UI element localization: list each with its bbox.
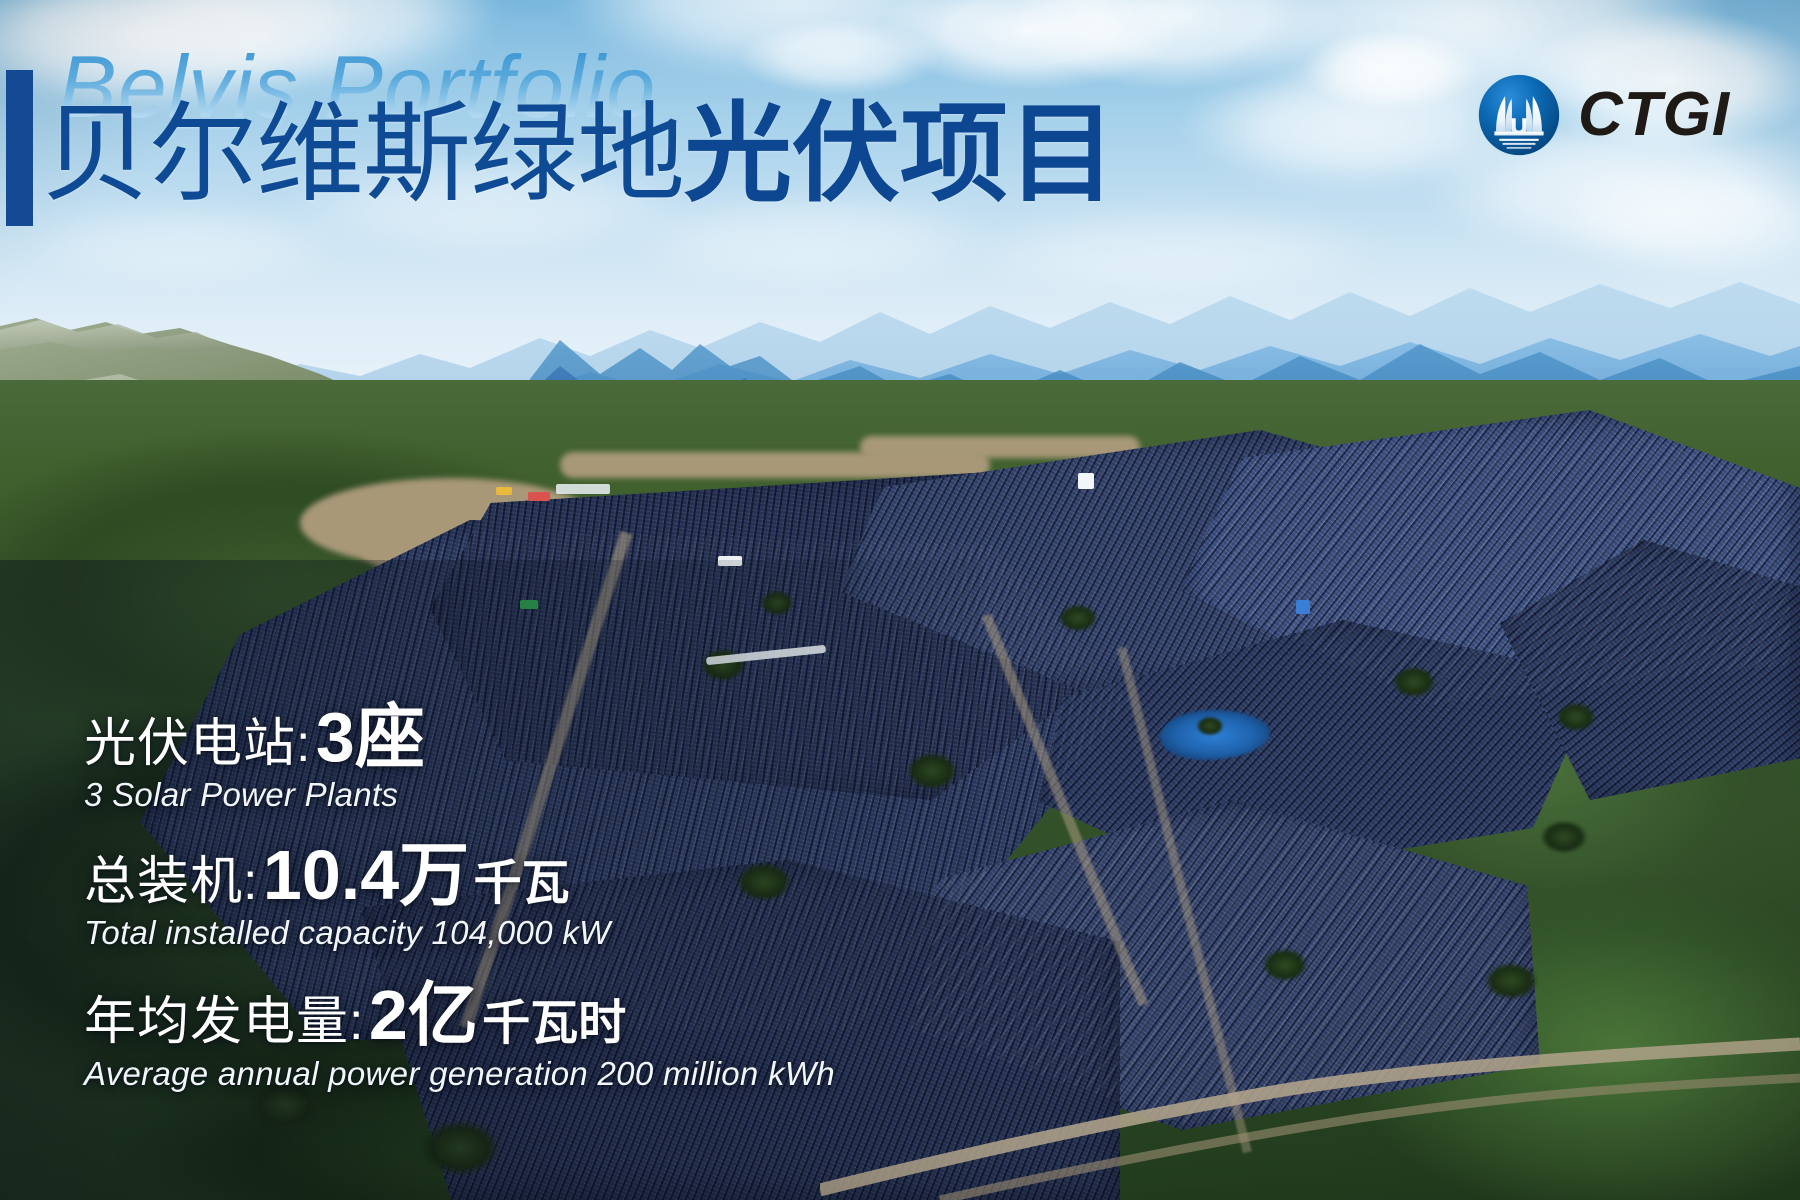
cloud <box>740 20 940 95</box>
page-title: 贝尔维斯绿地光伏项目 <box>42 100 1116 208</box>
brand-name: CTGI <box>1578 84 1730 146</box>
stat-main-line: 光伏电站: 3座 <box>84 700 835 774</box>
stat-unit: 万 <box>399 836 469 914</box>
stat-label: 年均发电量: <box>84 993 364 1051</box>
tree <box>1262 948 1308 982</box>
tree <box>1392 666 1436 698</box>
stat-main-line: 总装机: 10.4万 千瓦 <box>84 838 835 912</box>
stats-block: 光伏电站: 3座 3 Solar Power Plants 总装机: 10.4万… <box>84 700 835 1111</box>
site-container <box>718 556 742 566</box>
site-container <box>496 487 512 495</box>
stat-item: 光伏电站: 3座 3 Solar Power Plants <box>84 700 835 814</box>
stat-item: 总装机: 10.4万 千瓦 Total installed capacity 1… <box>84 838 835 952</box>
stat-value: 3 <box>316 698 355 776</box>
page-title-bold: 光伏项目 <box>684 93 1116 214</box>
stat-unit: 座 <box>355 698 425 776</box>
tree <box>1556 702 1596 732</box>
stat-subtitle: Average annual power generation 200 mill… <box>84 1055 835 1093</box>
title-accent-bar <box>6 70 33 226</box>
stat-subtitle: Total installed capacity 104,000 kW <box>84 914 835 952</box>
stat-item: 年均发电量: 2亿 千瓦时 Average annual power gener… <box>84 978 835 1092</box>
site-container <box>556 484 610 494</box>
poster: Belvis Portfolio 贝尔维斯绿地光伏项目 <box>0 0 1800 1200</box>
site-container <box>520 600 538 609</box>
tree <box>1540 820 1588 854</box>
tree <box>420 1120 500 1176</box>
stat-label: 总装机: <box>84 853 258 911</box>
stat-unit: 亿 <box>408 976 478 1054</box>
stat-unit-secondary: 千瓦 <box>474 857 570 910</box>
site-container <box>1296 600 1310 614</box>
tree <box>1058 604 1098 632</box>
site-container <box>1078 473 1094 489</box>
stat-subtitle: 3 Solar Power Plants <box>84 776 835 814</box>
tree <box>1484 962 1538 1000</box>
tree <box>906 752 958 790</box>
site-container <box>528 492 550 501</box>
stat-unit-secondary: 千瓦时 <box>482 997 626 1050</box>
stat-value: 2 <box>369 976 408 1054</box>
tree <box>1196 716 1224 736</box>
stat-main-line: 年均发电量: 2亿 千瓦时 <box>84 978 835 1052</box>
page-title-thin: 贝尔维斯绿地 <box>42 93 684 214</box>
cloud <box>1300 30 1480 110</box>
stat-label: 光伏电站: <box>84 715 311 773</box>
ctgi-sails-circle-icon <box>1478 74 1560 156</box>
perimeter-road <box>820 1000 1800 1200</box>
tree <box>760 590 794 616</box>
stat-value: 10.4 <box>263 836 399 914</box>
brand-logo: CTGI <box>1478 74 1730 156</box>
